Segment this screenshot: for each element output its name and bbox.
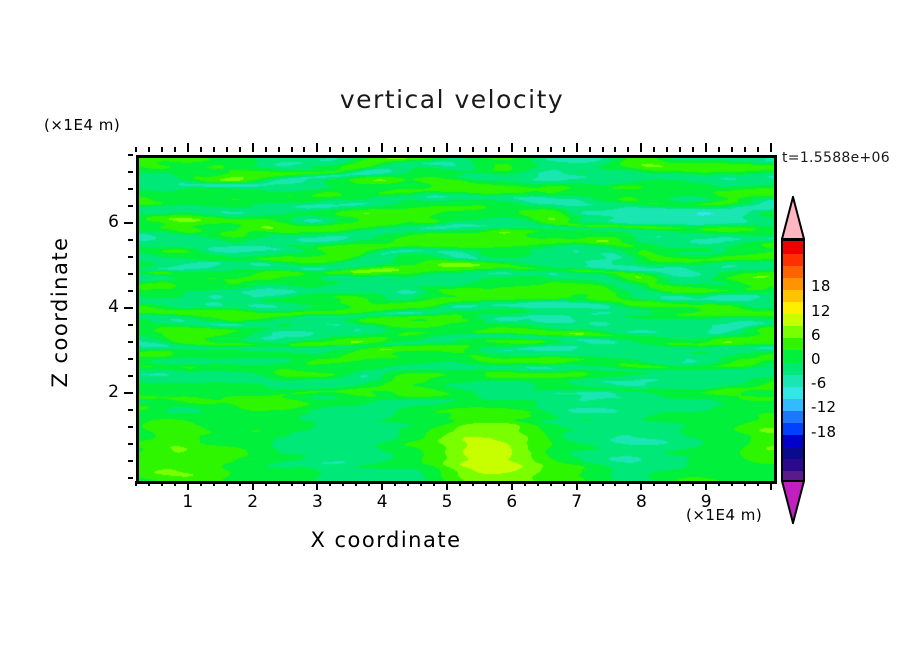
y-axis-minor-tick (128, 154, 133, 156)
x-axis-minor-tick (627, 481, 629, 486)
x-axis-top-tick (420, 147, 422, 152)
x-axis-top-tick (589, 147, 591, 152)
colorbar-bands (781, 238, 805, 480)
contour-plot-area (136, 155, 777, 484)
y-axis-minor-tick (128, 290, 133, 292)
x-axis-top-tick (368, 147, 370, 152)
x-axis-top-tick (653, 147, 655, 152)
x-axis-top-tick (602, 147, 604, 152)
x-axis-top-tick (511, 143, 513, 152)
x-axis-top-tick (472, 147, 474, 152)
colorbar-band (783, 409, 803, 423)
colorbar-band (783, 434, 803, 448)
x-axis-minor-tick (679, 481, 681, 486)
x-axis-minor-tick (239, 481, 241, 486)
x-axis-top-tick (563, 147, 565, 152)
x-axis-major-tick (705, 481, 707, 490)
x-axis-tick-label: 3 (297, 492, 337, 512)
x-axis-top-tick (744, 147, 746, 152)
x-axis-minor-tick (329, 481, 331, 486)
x-axis-major-tick (381, 481, 383, 490)
y-axis-major-tick (124, 307, 133, 309)
y-axis-title: Z coordinate (48, 212, 72, 412)
x-axis-top-tick (316, 143, 318, 152)
y-axis-tick-label: 6 (79, 212, 119, 232)
y-axis-minor-tick (128, 324, 133, 326)
colorbar-band (783, 325, 803, 339)
colorbar-band (783, 458, 803, 472)
x-axis-top-tick (498, 147, 500, 152)
y-axis-minor-tick (128, 426, 133, 428)
x-axis-minor-tick (342, 481, 344, 486)
x-axis-minor-tick (459, 481, 461, 486)
x-axis-major-tick (640, 481, 642, 490)
x-axis-top-tick (459, 147, 461, 152)
vertical-velocity-field (139, 158, 774, 481)
x-axis-top-tick (705, 143, 707, 152)
colorbar-band (783, 313, 803, 327)
x-axis-top-tick (576, 143, 578, 152)
x-axis-minor-tick (394, 481, 396, 486)
x-axis-top-tick (303, 147, 305, 152)
colorbar-tick-label: 6 (811, 326, 821, 344)
x-axis-top-tick (433, 147, 435, 152)
x-axis-minor-tick (472, 481, 474, 486)
x-axis-minor-tick (718, 481, 720, 486)
x-axis-major-tick (252, 481, 254, 490)
x-axis-minor-tick (407, 481, 409, 486)
x-axis-minor-tick (666, 481, 668, 486)
colorbar-band (783, 385, 803, 399)
x-axis-top-tick (446, 143, 448, 152)
y-axis-major-tick (124, 392, 133, 394)
x-axis-top-tick (265, 147, 267, 152)
x-axis-tick-label: 7 (557, 492, 597, 512)
colorbar-tick-label: 12 (811, 302, 831, 320)
colorbar-band (783, 276, 803, 290)
y-axis-minor-tick (128, 358, 133, 360)
x-axis-top-tick (485, 147, 487, 152)
x-axis-major-tick (770, 481, 772, 490)
x-axis-minor-tick (485, 481, 487, 486)
x-axis-minor-tick (200, 481, 202, 486)
x-axis-top-tick (692, 147, 694, 152)
colorbar-band (783, 240, 803, 254)
y-axis-minor-tick (128, 188, 133, 190)
x-axis-tick-label: 1 (168, 492, 208, 512)
x-axis-top-tick (342, 147, 344, 152)
colorbar-tick-label: 0 (811, 350, 821, 368)
x-axis-minor-tick (161, 481, 163, 486)
y-axis-minor-tick (128, 375, 133, 377)
colorbar-band (783, 337, 803, 351)
x-axis-minor-tick (692, 481, 694, 486)
x-axis-top-tick (666, 147, 668, 152)
x-axis-minor-tick (420, 481, 422, 486)
x-axis-top-tick (187, 143, 189, 152)
x-axis-top-tick (627, 147, 629, 152)
x-axis-top-tick (226, 147, 228, 152)
x-axis-minor-tick (550, 481, 552, 486)
x-axis-minor-tick (368, 481, 370, 486)
x-axis-major-tick (511, 481, 513, 490)
x-axis-top-tick (213, 147, 215, 152)
x-axis-top-tick (329, 147, 331, 152)
x-axis-top-tick (174, 147, 176, 152)
x-axis-minor-tick (614, 481, 616, 486)
y-axis-minor-tick (128, 205, 133, 207)
x-axis-top-tick (679, 147, 681, 152)
x-axis-minor-tick (355, 481, 357, 486)
x-axis-top-tick (381, 143, 383, 152)
x-axis-minor-tick (135, 481, 137, 486)
x-axis-minor-tick (653, 481, 655, 486)
x-axis-minor-tick (213, 481, 215, 486)
x-axis-top-tick (718, 147, 720, 152)
x-axis-top-tick (291, 147, 293, 152)
y-axis-tick-label: 2 (79, 382, 119, 402)
colorbar-band (783, 446, 803, 460)
x-axis-minor-tick (278, 481, 280, 486)
x-axis-top-tick (148, 147, 150, 152)
x-axis-tick-label: 9 (686, 492, 726, 512)
x-axis-top-tick (407, 147, 409, 152)
colorbar-band (783, 361, 803, 375)
y-axis-tick-label: 4 (79, 297, 119, 317)
colorbar-band (783, 422, 803, 436)
x-axis-top-tick (394, 147, 396, 152)
y-axis-unit-label: (×1E4 m) (44, 116, 120, 134)
colorbar-tick-label: -12 (811, 398, 836, 416)
x-axis-major-tick (316, 481, 318, 490)
colorbar-band (783, 349, 803, 363)
y-axis-major-tick (124, 222, 133, 224)
x-axis-minor-tick (291, 481, 293, 486)
x-axis-top-tick (239, 147, 241, 152)
x-axis-top-tick (537, 147, 539, 152)
x-axis-top-tick (355, 147, 357, 152)
x-axis-title: X coordinate (0, 528, 772, 552)
x-axis-major-tick (446, 481, 448, 490)
x-axis-top-tick (135, 147, 137, 152)
colorbar-band (783, 301, 803, 315)
x-axis-top-tick (161, 147, 163, 152)
x-axis-top-tick (524, 147, 526, 152)
x-axis-minor-tick (563, 481, 565, 486)
x-axis-minor-tick (303, 481, 305, 486)
y-axis-minor-tick (128, 460, 133, 462)
x-axis-minor-tick (148, 481, 150, 486)
x-axis-minor-tick (537, 481, 539, 486)
colorbar-band (783, 373, 803, 387)
x-axis-top-tick (278, 147, 280, 152)
x-axis-tick-label: 6 (492, 492, 532, 512)
y-axis-minor-tick (128, 171, 133, 173)
y-axis-minor-tick (128, 256, 133, 258)
x-axis-top-tick (252, 143, 254, 152)
x-axis-minor-tick (498, 481, 500, 486)
x-axis-top-tick (614, 147, 616, 152)
colorbar-over-arrow (781, 196, 805, 240)
x-axis-tick-label: 8 (621, 492, 661, 512)
x-axis-major-tick (187, 481, 189, 490)
x-axis-minor-tick (757, 481, 759, 486)
x-axis-minor-tick (265, 481, 267, 486)
x-axis-minor-tick (744, 481, 746, 486)
x-axis-top-tick (200, 147, 202, 152)
x-axis-minor-tick (589, 481, 591, 486)
y-axis-minor-tick (128, 273, 133, 275)
x-axis-tick-label: 2 (233, 492, 273, 512)
x-axis-minor-tick (174, 481, 176, 486)
y-axis-minor-tick (128, 239, 133, 241)
x-axis-minor-tick (226, 481, 228, 486)
x-axis-minor-tick (602, 481, 604, 486)
colorbar-band (783, 264, 803, 278)
x-axis-minor-tick (433, 481, 435, 486)
y-axis-minor-tick (128, 443, 133, 445)
x-axis-minor-tick (524, 481, 526, 486)
x-axis-top-tick (770, 143, 772, 152)
colorbar-tick-label: -18 (811, 423, 836, 441)
colorbar-band (783, 288, 803, 302)
colorbar-band (783, 252, 803, 266)
colorbar-tick-label: -6 (811, 374, 827, 392)
x-axis-tick-label: 4 (362, 492, 402, 512)
y-axis-minor-tick (128, 341, 133, 343)
timestamp-label: t=1.5588e+06 (782, 150, 890, 166)
page-title: vertical velocity (0, 85, 904, 114)
y-axis-minor-tick (128, 477, 133, 479)
colorbar-under-arrow (781, 480, 805, 524)
y-axis-minor-tick (128, 409, 133, 411)
x-axis-top-tick (640, 143, 642, 152)
x-axis-minor-tick (731, 481, 733, 486)
x-axis-top-tick (550, 147, 552, 152)
x-axis-top-tick (731, 147, 733, 152)
colorbar: 181260-6-12-18 (781, 196, 807, 526)
colorbar-tick-label: 18 (811, 277, 831, 295)
x-axis-major-tick (576, 481, 578, 490)
x-axis-tick-label: 5 (427, 492, 467, 512)
x-axis-top-tick (757, 147, 759, 152)
colorbar-band (783, 397, 803, 411)
